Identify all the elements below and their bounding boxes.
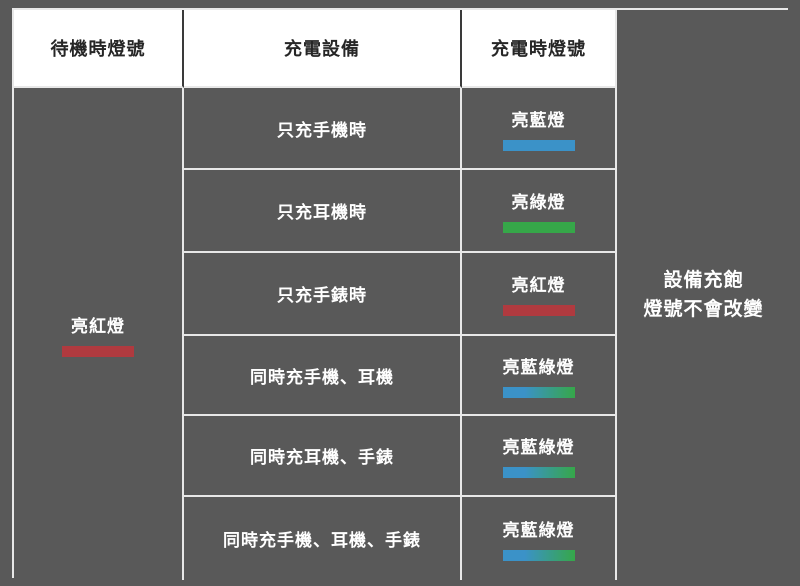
charging-light-cell: 亮藍綠燈: [462, 416, 617, 497]
charging-device-label: 同時充手機、耳機: [250, 363, 394, 388]
standby-light-label: 亮紅燈: [71, 312, 125, 337]
table-row: 只充手錶時: [184, 253, 462, 336]
column-header-charging-light-label: 充電時燈號: [491, 35, 586, 61]
green-light-bar-icon: [503, 222, 575, 233]
charging-light-cell: 亮綠燈: [462, 170, 617, 253]
charging-light-label: 亮紅燈: [512, 271, 566, 296]
note-cell-full-charge: 設備充飽 燈號不會改變: [617, 10, 790, 580]
charging-light-label: 亮藍綠燈: [503, 433, 575, 458]
table-row: 只充手機時: [184, 88, 462, 170]
charging-device-label: 同時充耳機、手錶: [250, 443, 394, 468]
table-row: 同時充手機、耳機: [184, 336, 462, 416]
blue-green-light-bar-icon: [503, 387, 575, 398]
table-row: 只充耳機時: [184, 170, 462, 253]
column-header-charging-device: 充電設備: [184, 10, 462, 88]
column-header-charging-light: 充電時燈號: [462, 10, 617, 88]
blue-green-light-bar-icon: [503, 550, 575, 561]
charging-device-label: 只充耳機時: [277, 198, 367, 223]
charging-light-label: 亮綠燈: [512, 188, 566, 213]
charging-light-cell: 亮藍綠燈: [462, 497, 617, 580]
column-header-charging-device-label: 充電設備: [284, 35, 360, 61]
standby-light-cell: 亮紅燈: [14, 88, 184, 580]
blue-light-bar-icon: [503, 140, 575, 151]
note-line-1: 設備充飽: [663, 266, 743, 295]
note-line-2: 燈號不會改變: [643, 295, 763, 324]
red-light-bar-icon: [62, 346, 134, 357]
table-row: 同時充手機、耳機、手錶: [184, 497, 462, 580]
charging-light-cell: 亮藍燈: [462, 88, 617, 170]
led-status-table: 待機時燈號 充電設備 充電時燈號 設備充飽 燈號不會改變 亮紅燈 只充手機時 亮…: [12, 8, 788, 578]
charging-light-label: 亮藍燈: [512, 106, 566, 131]
blue-green-light-bar-icon: [503, 467, 575, 478]
column-header-standby-light-label: 待機時燈號: [51, 35, 146, 61]
table-row: 同時充耳機、手錶: [184, 416, 462, 497]
charging-light-cell: 亮紅燈: [462, 253, 617, 336]
charging-device-label: 同時充手機、耳機、手錶: [223, 526, 421, 551]
charging-light-label: 亮藍綠燈: [503, 516, 575, 541]
charging-device-label: 只充手機時: [277, 116, 367, 141]
column-header-standby-light: 待機時燈號: [14, 10, 184, 88]
charging-light-label: 亮藍綠燈: [503, 353, 575, 378]
charging-device-label: 只充手錶時: [277, 281, 367, 306]
red-light-bar-icon: [503, 305, 575, 316]
charging-light-cell: 亮藍綠燈: [462, 336, 617, 416]
